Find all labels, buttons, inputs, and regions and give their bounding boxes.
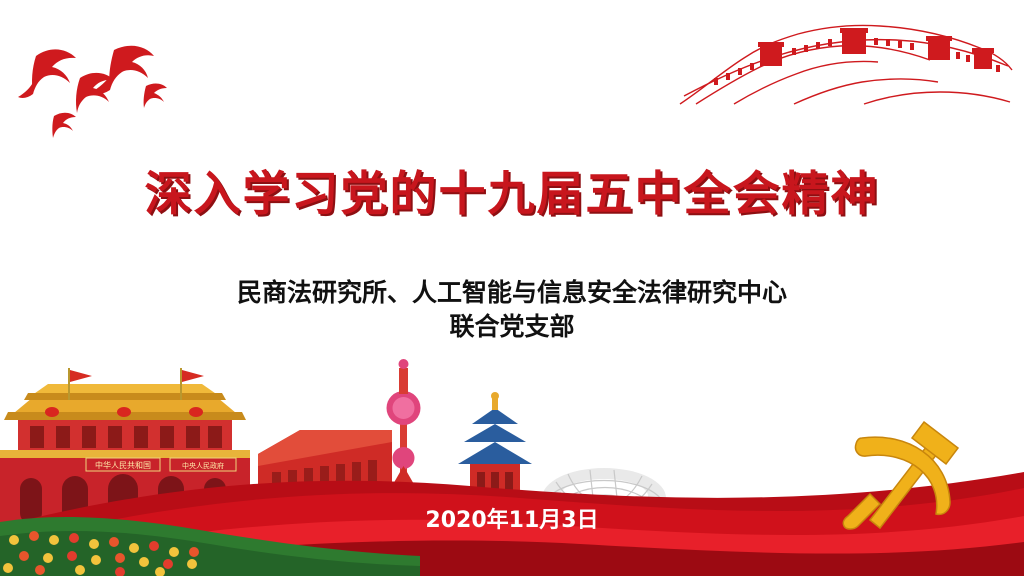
subtitle-line-1: 民商法研究所、人工智能与信息安全法律研究中心 — [237, 278, 787, 307]
page-title: 深入学习党的十九届五中全会精神 — [0, 155, 1024, 224]
date-label: 2020年11月3日 — [0, 502, 1024, 534]
great-wall-icon — [674, 18, 1014, 108]
subtitle: 民商法研究所、人工智能与信息安全法律研究中心 联合党支部 — [0, 276, 1024, 344]
subtitle-line-2: 联合党支部 — [0, 310, 1024, 344]
slide-canvas: 深入学习党的十九届五中全会精神 民商法研究所、人工智能与信息安全法律研究中心 联… — [0, 0, 1024, 576]
peace-doves-icon — [18, 20, 208, 145]
scenery-illustration: 中华人民共和国 中央人民政府 — [0, 346, 1024, 576]
